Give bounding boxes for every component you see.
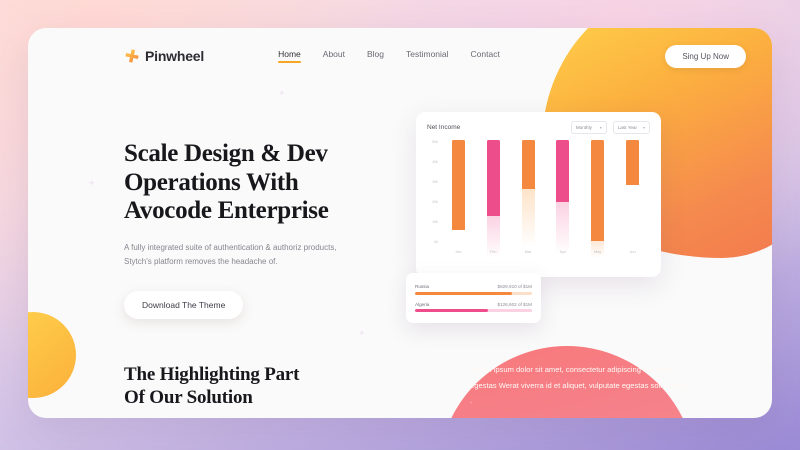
hero-subtitle: A fully integrated suite of authenticati… <box>124 241 356 269</box>
landing-page-card: ✦ ✦ ✦ Pinwheel Home About Bl <box>28 28 772 418</box>
y-tick-label: 0k <box>427 240 438 244</box>
stat-header: Russia $829,910 of $1M <box>415 284 532 289</box>
bar-segment-solid <box>556 140 569 202</box>
bar-column <box>556 140 569 254</box>
page-title: Scale Design & Dev Operations With Avoco… <box>124 140 389 226</box>
y-tick-label: 20k <box>427 200 438 204</box>
pinwheel-plus-icon <box>124 48 140 64</box>
bar-segment-solid <box>522 140 535 189</box>
section-title-line-1: The Highlighting Part <box>124 364 299 385</box>
stat-progress-track <box>415 309 532 312</box>
stat-row: Algeria $128,602 of $1M <box>415 302 532 312</box>
sparkle-icon: ✦ <box>88 178 96 189</box>
stat-value: $829,910 of $1M <box>498 284 532 289</box>
sparkle-icon: ✦ <box>358 328 366 339</box>
chevron-down-icon: ▾ <box>643 125 645 130</box>
section-title: The Highlighting Part Of Our Solution <box>124 364 299 410</box>
stat-progress-track <box>415 292 532 295</box>
bar-column <box>626 140 639 185</box>
stat-name: Algeria <box>415 302 429 307</box>
chart-header: Net Income Monthly ▾ Last Year ▾ <box>427 121 650 134</box>
chart-x-axis: JanFebMarAprMayJun <box>441 245 650 258</box>
stat-row: Russia $829,910 of $1M <box>415 284 532 294</box>
bar-segment-solid <box>487 140 500 216</box>
main-nav: Home About Blog Testimonial Contact <box>278 49 500 63</box>
y-tick-label: 50k <box>427 140 438 144</box>
bar-segment-solid <box>626 140 639 185</box>
nav-item-testimonial[interactable]: Testimonial <box>406 49 449 63</box>
hero-section: Scale Design & Dev Operations With Avoco… <box>124 140 389 319</box>
x-tick-label: Mar <box>522 250 535 254</box>
chart-filters: Monthly ▾ Last Year ▾ <box>571 121 650 134</box>
hero-title-line-3: Avocode Enterprise <box>124 197 329 224</box>
circle-description-text: Lorem ipsum dolor sit amet, consectetur … <box>470 362 688 409</box>
stat-header: Algeria $128,602 of $1M <box>415 302 532 307</box>
y-tick-label: 30k <box>427 180 438 184</box>
bar-chart-plot: 50k40k30k20k10k0k JanFebMarAprMayJun <box>427 140 650 258</box>
net-income-chart-card: Net Income Monthly ▾ Last Year ▾ 50k40k3… <box>416 112 661 277</box>
hero-title-line-2: Operations With <box>124 169 298 196</box>
chevron-down-icon: ▾ <box>600 125 602 130</box>
section-title-line-2: Of Our Solution <box>124 387 253 408</box>
period-select[interactable]: Monthly ▾ <box>571 121 607 134</box>
bar-segment-faded <box>522 189 535 248</box>
bar-segment-solid <box>452 140 465 230</box>
stat-progress-fill <box>415 309 488 312</box>
download-theme-button[interactable]: Download The Theme <box>124 291 243 319</box>
stat-name: Russia <box>415 284 429 289</box>
bar-column <box>522 140 535 247</box>
bar-column <box>452 140 465 230</box>
nav-item-about[interactable]: About <box>323 49 345 63</box>
x-tick-label: Apr <box>556 250 569 254</box>
stat-progress-fill <box>415 292 512 295</box>
country-stats-card: Russia $829,910 of $1M Algeria $128,602 … <box>406 273 541 323</box>
x-tick-label: May <box>591 250 604 254</box>
range-select[interactable]: Last Year ▾ <box>613 121 650 134</box>
y-tick-label: 40k <box>427 160 438 164</box>
x-tick-label: Jan <box>452 250 465 254</box>
chart-title: Net Income <box>427 124 460 131</box>
chart-y-axis: 50k40k30k20k10k0k <box>427 140 440 244</box>
sign-up-button[interactable]: Sing Up Now <box>665 45 746 68</box>
y-tick-label: 10k <box>427 220 438 224</box>
bar-segment-solid <box>591 140 604 241</box>
decorative-yellow-circle <box>28 312 76 398</box>
bar-column <box>487 140 500 258</box>
chart-bars <box>441 140 650 244</box>
x-tick-label: Feb <box>487 250 500 254</box>
nav-item-contact[interactable]: Contact <box>471 49 500 63</box>
sparkle-icon: ✦ <box>278 88 286 99</box>
range-select-value: Last Year <box>618 125 637 130</box>
brand-name: Pinwheel <box>145 48 204 64</box>
bar-column <box>591 140 604 258</box>
nav-item-blog[interactable]: Blog <box>367 49 384 63</box>
brand-logo[interactable]: Pinwheel <box>124 48 204 64</box>
period-select-value: Monthly <box>576 125 592 130</box>
stat-value: $128,602 of $1M <box>498 302 532 307</box>
nav-item-home[interactable]: Home <box>278 49 301 63</box>
site-header: Pinwheel Home About Blog Testimonial Con… <box>28 28 772 84</box>
hero-title-line-1: Scale Design & Dev <box>124 140 328 167</box>
x-tick-label: Jun <box>626 250 639 254</box>
